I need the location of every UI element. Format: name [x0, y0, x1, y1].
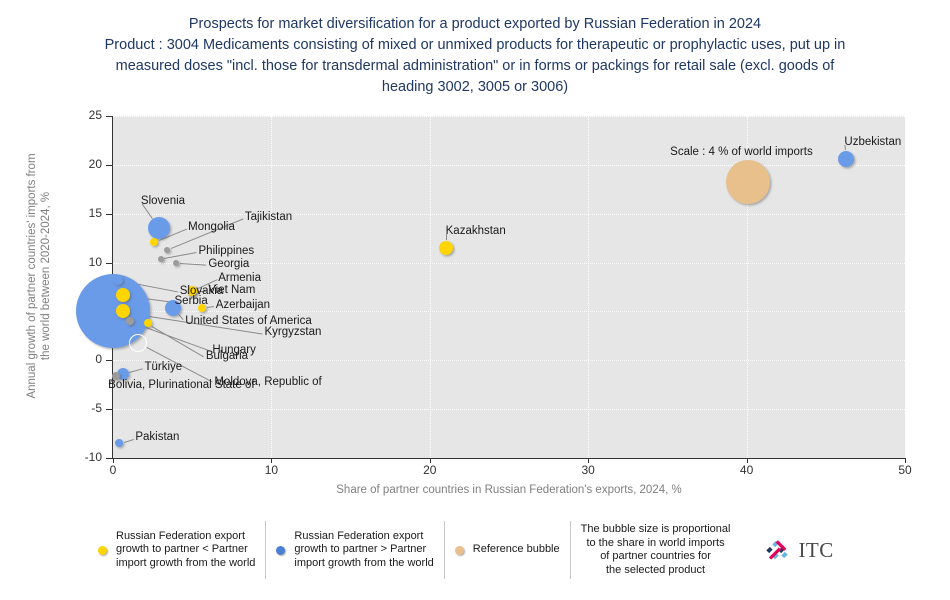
legend-note: The bubble size is proportional to the s… — [570, 521, 741, 579]
itc-logo: ITC — [740, 537, 833, 563]
legend-blue-line-2: growth to partner > Partner — [294, 543, 426, 555]
chart-legend: Russian Federation export growth to part… — [88, 519, 863, 581]
title-line-3: measured doses "incl. those for transder… — [0, 56, 950, 77]
legend-item-reference-text: Reference bubble — [473, 543, 560, 557]
bubble-label: Bolivia, Plurinational State of — [108, 379, 254, 392]
x-tick-label: 0 — [93, 463, 133, 477]
data-bubble[interactable] — [116, 288, 130, 302]
gridline-vertical — [905, 116, 906, 458]
legend-item-blue: Russian Federation export growth to part… — [265, 521, 443, 579]
data-bubble[interactable] — [116, 304, 130, 318]
legend-yellow-line-1: Russian Federation export — [116, 530, 245, 542]
legend-yellow-line-2: growth to partner < Partner — [116, 543, 248, 555]
bubble-label: Tajikistan — [245, 211, 292, 224]
gridline-vertical — [430, 116, 431, 458]
bubble-label: Kazakhstan — [446, 225, 506, 238]
y-tick-label: 10 — [0, 255, 112, 269]
legend-note-line-1: The bubble size is proportional — [581, 523, 731, 535]
chart-page: Prospects for market diversification for… — [0, 0, 950, 600]
gridline-horizontal — [113, 214, 905, 215]
data-bubble[interactable] — [164, 247, 170, 253]
gridline-horizontal — [113, 409, 905, 410]
scale-caption: Scale : 4 % of world imports — [670, 146, 813, 158]
gridline-vertical — [271, 116, 272, 458]
legend-note-line-3: of partner countries for — [600, 550, 711, 562]
x-tick-label: 30 — [568, 463, 608, 477]
x-tick-label: 20 — [410, 463, 450, 477]
gridline-horizontal — [113, 165, 905, 166]
itc-logo-mark-icon — [766, 537, 792, 563]
y-tick-label: 15 — [0, 206, 112, 220]
y-tick-label: -5 — [0, 401, 112, 415]
bubble-label: Philippines — [199, 245, 255, 258]
data-bubble[interactable] — [144, 319, 152, 327]
legend-blue-line-3: import growth from the world — [294, 557, 433, 569]
y-axis-title: Annual growth of partner countries' impo… — [25, 151, 53, 401]
legend-note-line-2: to the share in world imports — [586, 537, 724, 549]
title-line-1: Prospects for market diversification for… — [0, 14, 950, 35]
bubble-label: Azerbaijan — [216, 299, 270, 312]
bubble-label: Slovenia — [141, 195, 185, 208]
data-bubble[interactable] — [439, 241, 453, 255]
legend-blue-line-1: Russian Federation export — [294, 530, 423, 542]
y-tick-label: -10 — [0, 450, 112, 464]
y-tick-label: 25 — [0, 108, 112, 122]
x-axis-title: Share of partner countries in Russian Fe… — [113, 484, 905, 496]
legend-note-line-4: the selected product — [606, 564, 705, 576]
bubble-label: Serbia — [175, 295, 208, 308]
reference-dot-icon — [455, 546, 464, 555]
gridline-horizontal — [113, 116, 905, 117]
bubble-label: Uzbekistan — [844, 136, 901, 149]
legend-item-reference: Reference bubble — [444, 521, 570, 579]
data-bubble[interactable] — [173, 260, 179, 266]
yellow-dot-icon — [98, 546, 107, 555]
bubble-label: Georgia — [208, 258, 249, 271]
data-bubble[interactable] — [113, 275, 123, 285]
legend-note-text: The bubble size is proportional to the s… — [581, 523, 731, 577]
title-line-4: heading 3002, 3005 or 3006) — [0, 77, 950, 98]
bubble-label: Mongolia — [188, 221, 235, 234]
itc-logo-text: ITC — [798, 538, 833, 563]
bubble-label: Türkiye — [145, 361, 183, 374]
gridline-horizontal — [113, 311, 905, 312]
bubble-label: Pakistan — [135, 431, 179, 444]
legend-yellow-line-3: import growth from the world — [116, 557, 255, 569]
x-tick-label: 10 — [251, 463, 291, 477]
gridline-vertical — [588, 116, 589, 458]
bubble-label: Viet Nam — [208, 284, 255, 297]
bubble-label: Kyrgyzstan — [265, 326, 322, 339]
data-bubble[interactable] — [158, 256, 164, 262]
x-tick-label: 50 — [885, 463, 925, 477]
x-axis-line — [112, 458, 905, 459]
page-title: Prospects for market diversification for… — [0, 14, 950, 98]
bubble-label: Bulgaria — [206, 350, 248, 363]
legend-item-yellow-text: Russian Federation export growth to part… — [116, 530, 255, 571]
data-bubble[interactable] — [129, 334, 147, 352]
y-tick-label: 20 — [0, 157, 112, 171]
blue-dot-icon — [276, 546, 285, 555]
title-line-2: Product : 3004 Medicaments consisting of… — [0, 35, 950, 56]
legend-item-blue-text: Russian Federation export growth to part… — [294, 530, 433, 571]
legend-item-yellow: Russian Federation export growth to part… — [88, 521, 265, 579]
x-tick-label: 40 — [727, 463, 767, 477]
y-tick-label: 0 — [0, 352, 112, 366]
